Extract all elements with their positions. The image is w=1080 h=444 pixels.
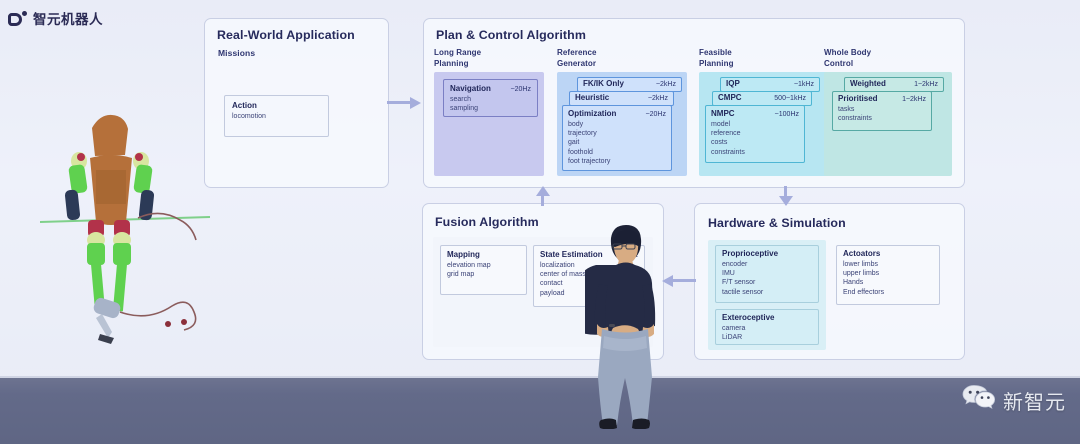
panel-title: Fusion Algorithm (435, 215, 539, 229)
card-title: Prioritised (838, 94, 878, 103)
card-action[interactable]: Action locomotion (224, 95, 329, 137)
card-frequency: ~1kHz (794, 81, 814, 88)
card-prioritised[interactable]: Prioritised 1~2kHz tasks constraints (832, 91, 932, 131)
card-item: upper limbs (843, 269, 933, 278)
card-items: camera LiDAR (722, 324, 812, 342)
arrow-hardware-to-fusion (662, 275, 696, 287)
card-frequency: ~100Hz (775, 111, 799, 118)
card-frequency: ~20Hz (511, 86, 531, 93)
brand-logo-text: 智元机器人 (33, 8, 103, 28)
card-header: Exteroceptive (722, 313, 812, 322)
panel-subtitle: Missions (218, 48, 255, 59)
stage-floor (0, 378, 1080, 444)
card-weighted[interactable]: Weighted 1~2kHz (844, 77, 944, 92)
column-title-line: Planning (434, 58, 481, 69)
card-header: Prioritised 1~2kHz (838, 94, 926, 103)
panel-title: Hardware & Simulation (708, 216, 846, 230)
column-title-line: Whole Body (824, 47, 871, 58)
card-item: encoder (722, 260, 812, 269)
card-items: tasks constraints (838, 105, 926, 123)
card-item: Hands (843, 278, 933, 287)
card-item: IMU (722, 269, 812, 278)
card-items: locomotion (232, 112, 321, 121)
card-item: reference (711, 129, 799, 138)
column-title-line: Generator (557, 58, 597, 69)
card-item: body (568, 120, 666, 129)
card-item: tactile sensor (722, 288, 812, 297)
card-frequency: 1~2kHz (902, 96, 926, 103)
card-title: Proprioceptive (722, 249, 778, 258)
card-actoators[interactable]: Actoators lower limbs upper limbs Hands … (836, 245, 940, 305)
card-header: Optimization ~20Hz (568, 109, 666, 118)
card-items: lower limbs upper limbs Hands End effect… (843, 260, 933, 297)
card-item: trajectory (568, 129, 666, 138)
watermark-text: 新智元 (1003, 386, 1066, 415)
column-title-line: Long Range (434, 47, 481, 58)
card-mapping[interactable]: Mapping elevation map grid map (440, 245, 527, 295)
card-frequency: ~20Hz (646, 111, 666, 118)
agibot-logo-icon (8, 11, 27, 26)
card-item: elevation map (447, 261, 520, 270)
card-header: Weighted 1~2kHz (850, 79, 938, 88)
card-fk-ik-only[interactable]: FK/IK Only ~2kHz (577, 77, 682, 92)
card-title: IQP (726, 79, 740, 88)
card-item: constraints (711, 148, 799, 157)
card-frequency: 500~1kHz (774, 95, 806, 102)
brand-logo: 智元机器人 (8, 8, 103, 28)
card-item: sampling (450, 104, 531, 113)
card-header: Action (232, 101, 321, 110)
card-item: gait (568, 138, 666, 147)
card-items: elevation map grid map (447, 261, 520, 279)
card-frequency: ~2kHz (656, 81, 676, 88)
card-nmpc[interactable]: NMPC ~100Hz model reference costs constr… (705, 105, 805, 163)
column-title-whole-body-control: Whole Body Control (824, 47, 871, 69)
card-heuristic[interactable]: Heuristic ~2kHz (569, 91, 674, 106)
card-title: FK/IK Only (583, 79, 624, 88)
arrow-plan-to-hardware (779, 186, 793, 206)
column-title-long-range-planning: Long Range Planning (434, 47, 481, 69)
card-title: Actoators (843, 249, 880, 258)
card-proprioceptive[interactable]: Proprioceptive encoder IMU F/T sensor ta… (715, 245, 819, 303)
card-optimization[interactable]: Optimization ~20Hz body trajectory gait … (562, 105, 672, 171)
card-frequency: 1~2kHz (914, 81, 938, 88)
card-title: Action (232, 101, 257, 110)
arrow-application-to-plan (387, 97, 423, 109)
card-title: Mapping (447, 250, 480, 259)
panel-title: Real-World Application (217, 28, 355, 42)
card-item: search (450, 95, 531, 104)
card-title: Exteroceptive (722, 313, 774, 322)
card-item: camera (722, 324, 812, 333)
presenter-person (585, 224, 665, 429)
card-header: Mapping (447, 250, 520, 259)
wechat-icon (962, 384, 996, 416)
robot-simulation-figure (40, 100, 210, 345)
card-title: Heuristic (575, 93, 609, 102)
card-cmpc[interactable]: CMPC 500~1kHz (712, 91, 812, 106)
card-item: locomotion (232, 112, 321, 121)
card-header: CMPC 500~1kHz (718, 93, 806, 102)
column-title-line: Planning (699, 58, 734, 69)
card-title: NMPC (711, 109, 735, 118)
card-header: NMPC ~100Hz (711, 109, 799, 118)
card-header: FK/IK Only ~2kHz (583, 79, 676, 88)
card-item: foothold (568, 148, 666, 157)
card-frequency: ~2kHz (648, 95, 668, 102)
channel-watermark: 新智元 (962, 384, 1066, 416)
card-items: body trajectory gait foothold foot traje… (568, 120, 666, 166)
card-item: F/T sensor (722, 278, 812, 287)
card-navigation[interactable]: Navigation ~20Hz search sampling (443, 79, 538, 117)
card-items: encoder IMU F/T sensor tactile sensor (722, 260, 812, 297)
card-item: model (711, 120, 799, 129)
column-title-line: Control (824, 58, 871, 69)
card-item: End effectors (843, 288, 933, 297)
card-exteroceptive[interactable]: Exteroceptive camera LiDAR (715, 309, 819, 345)
column-title-line: Feasible (699, 47, 734, 58)
panel-plan-control-algorithm[interactable]: Plan & Control Algorithm Long Range Plan… (423, 18, 965, 188)
card-title: Optimization (568, 109, 616, 118)
panel-real-world-application[interactable]: Real-World Application Missions Action l… (204, 18, 389, 188)
column-title-feasible-planning: Feasible Planning (699, 47, 734, 69)
card-items: search sampling (450, 95, 531, 113)
card-item: foot trajectory (568, 157, 666, 166)
panel-hardware-simulation[interactable]: Hardware & Simulation Proprioceptive enc… (694, 203, 965, 360)
card-item: tasks (838, 105, 926, 114)
card-item: costs (711, 138, 799, 147)
card-header: Heuristic ~2kHz (575, 93, 668, 102)
column-title-line: Reference (557, 47, 597, 58)
card-title: Weighted (850, 79, 886, 88)
card-item: constraints (838, 114, 926, 123)
card-items: model reference costs constraints (711, 120, 799, 157)
card-iqp[interactable]: IQP ~1kHz (720, 77, 820, 92)
card-item: LiDAR (722, 333, 812, 342)
card-header: Navigation ~20Hz (450, 84, 531, 93)
card-header: Actoators (843, 249, 933, 258)
column-title-reference-generator: Reference Generator (557, 47, 597, 69)
card-header: Proprioceptive (722, 249, 812, 258)
card-item: lower limbs (843, 260, 933, 269)
card-title: Navigation (450, 84, 491, 93)
arrow-fusion-to-plan (536, 186, 550, 206)
card-item: grid map (447, 270, 520, 279)
card-header: IQP ~1kHz (726, 79, 814, 88)
card-title: CMPC (718, 93, 742, 102)
panel-title: Plan & Control Algorithm (436, 28, 586, 42)
